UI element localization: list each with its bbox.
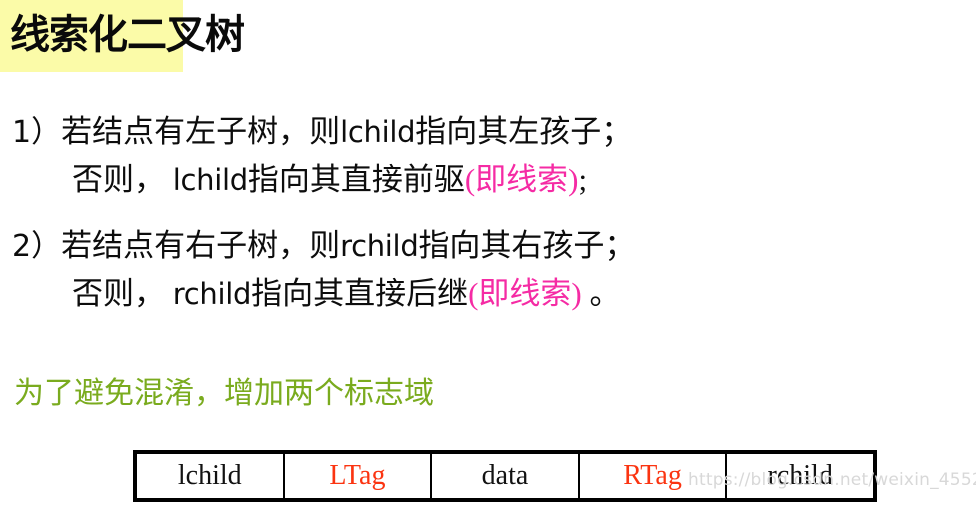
bullet-2-line-2-tail: 。: [582, 276, 621, 311]
bullet-2-line-1: 2）若结点有右子树，则rchild指向其右孩子；: [0, 222, 976, 270]
bullet-1-text-after: 指向其左孩子；: [415, 114, 632, 149]
bullet-1-marker: 1）: [12, 115, 61, 150]
bullet-2-marker: 2）: [12, 229, 61, 264]
node-field-lchild: lchild: [137, 454, 283, 498]
page-title: 线索化二叉树: [10, 6, 244, 64]
bullet-1-line-2-tail: ;: [579, 162, 588, 197]
bullet-2-code-rchild: rchild: [340, 229, 418, 263]
node-structure-diagram: lchild LTag data RTag rchild: [133, 450, 877, 502]
slide-canvas: 线索化二叉树 1）若结点有左子树，则lchild指向其左孩子； 否则， lchi…: [0, 0, 976, 506]
bullet-1-code-lchild-alt: lchild: [173, 163, 248, 197]
bullet-list: 1）若结点有左子树，则lchild指向其左孩子； 否则， lchild指向其直接…: [0, 108, 976, 318]
node-field-rchild: rchild: [725, 454, 873, 498]
bullet-1-line-2: 否则， lchild指向其直接前驱(即线索);: [0, 156, 976, 204]
bullet-2-code-rchild-alt: rchild: [173, 277, 251, 311]
bullet-2-thread-note: (即线索): [468, 276, 582, 311]
bullet-2-text-before: 若结点有右子树，则: [61, 228, 340, 263]
bullet-item-2: 2）若结点有右子树，则rchild指向其右孩子； 否则， rchild指向其直接…: [0, 222, 976, 318]
bullet-1-code-lchild: lchild: [340, 115, 415, 149]
bullet-item-1: 1）若结点有左子树，则lchild指向其左孩子； 否则， lchild指向其直接…: [0, 108, 976, 204]
node-field-data: data: [430, 454, 578, 498]
bullet-1-text-before: 若结点有左子树，则: [61, 114, 340, 149]
bullet-2-line-2: 否则， rchild指向其直接后继(即线索) 。: [0, 270, 976, 318]
bullet-1-predecessor-text: 指向其直接前驱: [248, 162, 465, 197]
bullet-1-else-label: 否则，: [72, 162, 165, 197]
flag-field-note: 为了避免混淆，增加两个标志域: [14, 372, 434, 416]
bullet-2-text-after: 指向其右孩子；: [418, 228, 635, 263]
node-field-ltag: LTag: [283, 454, 431, 498]
bullet-2-else-label: 否则，: [72, 276, 165, 311]
bullet-2-successor-text: 指向其直接后继: [251, 276, 468, 311]
bullet-1-thread-note: (即线索): [465, 162, 579, 197]
bullet-1-line-1: 1）若结点有左子树，则lchild指向其左孩子；: [0, 108, 976, 156]
node-field-rtag: RTag: [578, 454, 726, 498]
